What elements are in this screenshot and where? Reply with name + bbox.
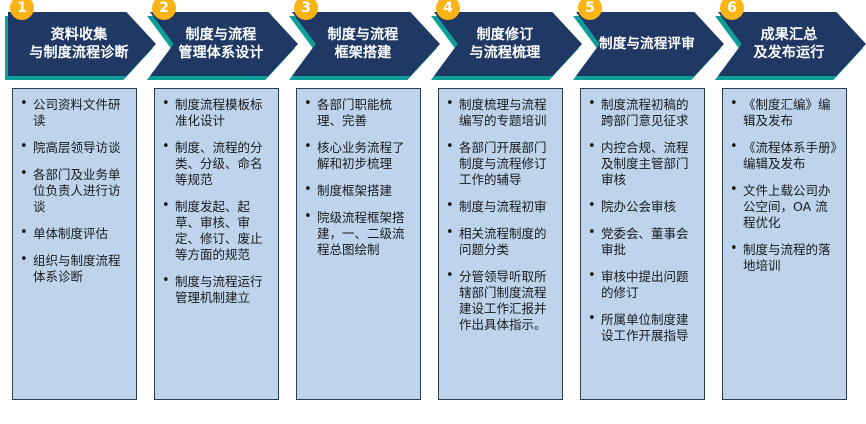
list-item: 文件上载公司办公空间，OA 流程优化	[727, 183, 840, 231]
stage-task-list-box-5: 制度流程初稿的跨部门意见征求内控合规、流程及制度主管部门审核院办公会审核党委会、…	[580, 88, 705, 400]
list-item: 各部门开展部门制度与流程修订工作的辅导	[443, 140, 556, 188]
task-list: 各部门职能梳理、完善核心业务流程了解和初步梳理制度框架搭建院级流程框架搭建，一、…	[301, 97, 414, 258]
list-item: 制度与流程运行管理机制建立	[159, 274, 272, 306]
stage-title: 制度与流程评审	[576, 12, 724, 76]
stage-task-list-box-2: 制度流程模板标准化设计制度、流程的分类、分级、命名等规范制度发起、起草、审核、审…	[154, 88, 279, 400]
stage-title: 资料收集 与制度流程诊断	[8, 12, 156, 76]
list-item: 院办公会审核	[585, 199, 698, 215]
list-item: 制度、流程的分类、分级、命名等规范	[159, 140, 272, 188]
task-list: 制度流程初稿的跨部门意见征求内控合规、流程及制度主管部门审核院办公会审核党委会、…	[585, 97, 698, 344]
list-item: 审核中提出问题的修订	[585, 269, 698, 301]
list-item: 制度流程模板标准化设计	[159, 97, 272, 129]
list-item: 单体制度评估	[17, 226, 130, 242]
process-flow-diagram: 资料收集 与制度流程诊断1公司资料文件研读院高层领导访谈各部门及业务单位负责人进…	[0, 0, 866, 424]
list-item: 制度梳理与流程编写的专题培训	[443, 97, 556, 129]
process-stage-2: 制度与流程 管理体系设计2制度流程模板标准化设计制度、流程的分类、分级、命名等规…	[150, 0, 292, 424]
stage-title: 制度修订 与流程梳理	[434, 12, 582, 76]
stage-title: 成果汇总 及发布运行	[718, 12, 866, 76]
list-item: 院高层领导访谈	[17, 140, 130, 156]
list-item: 核心业务流程了解和初步梳理	[301, 140, 414, 172]
list-item: 制度与流程初审	[443, 199, 556, 215]
process-stage-3: 制度与流程 框架搭建3各部门职能梳理、完善核心业务流程了解和初步梳理制度框架搭建…	[292, 0, 434, 424]
stage-task-list-box-4: 制度梳理与流程编写的专题培训各部门开展部门制度与流程修订工作的辅导制度与流程初审…	[438, 88, 563, 400]
list-item: 党委会、董事会审批	[585, 226, 698, 258]
stage-banner-5[interactable]: 制度与流程评审	[576, 12, 724, 80]
list-item: 院级流程框架搭建，一、二级流程总图绘制	[301, 210, 414, 258]
stage-task-list-box-1: 公司资料文件研读院高层领导访谈各部门及业务单位负责人进行访谈单体制度评估组织与制…	[12, 88, 137, 400]
task-list: 制度流程模板标准化设计制度、流程的分类、分级、命名等规范制度发起、起草、审核、审…	[159, 97, 272, 306]
process-stage-6: 成果汇总 及发布运行6《制度汇编》编辑及发布《流程体系手册》编辑及发布文件上载公…	[718, 0, 860, 424]
list-item: 《流程体系手册》编辑及发布	[727, 140, 840, 172]
list-item: 《制度汇编》编辑及发布	[727, 97, 840, 129]
list-item: 相关流程制度的问题分类	[443, 226, 556, 258]
stage-banner-1[interactable]: 资料收集 与制度流程诊断	[8, 12, 156, 80]
list-item: 组织与制度流程体系诊断	[17, 253, 130, 285]
task-list: 《制度汇编》编辑及发布《流程体系手册》编辑及发布文件上载公司办公空间，OA 流程…	[727, 97, 840, 274]
stage-task-list-box-6: 《制度汇编》编辑及发布《流程体系手册》编辑及发布文件上载公司办公空间，OA 流程…	[722, 88, 847, 400]
list-item: 内控合规、流程及制度主管部门审核	[585, 140, 698, 188]
list-item: 各部门职能梳理、完善	[301, 97, 414, 129]
list-item: 各部门及业务单位负责人进行访谈	[17, 167, 130, 215]
process-stage-4: 制度修订 与流程梳理4制度梳理与流程编写的专题培训各部门开展部门制度与流程修订工…	[434, 0, 576, 424]
list-item: 所属单位制度建设工作开展指导	[585, 312, 698, 344]
list-item: 制度发起、起草、审核、审定、修订、废止等方面的规范	[159, 199, 272, 263]
stage-banner-4[interactable]: 制度修订 与流程梳理	[434, 12, 582, 80]
task-list: 制度梳理与流程编写的专题培训各部门开展部门制度与流程修订工作的辅导制度与流程初审…	[443, 97, 556, 333]
stage-title: 制度与流程 管理体系设计	[150, 12, 298, 76]
stage-title: 制度与流程 框架搭建	[292, 12, 440, 76]
stage-banner-2[interactable]: 制度与流程 管理体系设计	[150, 12, 298, 80]
list-item: 制度流程初稿的跨部门意见征求	[585, 97, 698, 129]
stage-banner-3[interactable]: 制度与流程 框架搭建	[292, 12, 440, 80]
process-stage-5: 制度与流程评审5制度流程初稿的跨部门意见征求内控合规、流程及制度主管部门审核院办…	[576, 0, 718, 424]
process-stage-1: 资料收集 与制度流程诊断1公司资料文件研读院高层领导访谈各部门及业务单位负责人进…	[8, 0, 150, 424]
list-item: 公司资料文件研读	[17, 97, 130, 129]
list-item: 制度与流程的落地培训	[727, 242, 840, 274]
list-item: 制度框架搭建	[301, 183, 414, 199]
stage-banner-6[interactable]: 成果汇总 及发布运行	[718, 12, 866, 80]
stage-task-list-box-3: 各部门职能梳理、完善核心业务流程了解和初步梳理制度框架搭建院级流程框架搭建，一、…	[296, 88, 421, 400]
task-list: 公司资料文件研读院高层领导访谈各部门及业务单位负责人进行访谈单体制度评估组织与制…	[17, 97, 130, 285]
list-item: 分管领导听取所辖部门制度流程建设工作汇报并作出具体指示。	[443, 269, 556, 333]
